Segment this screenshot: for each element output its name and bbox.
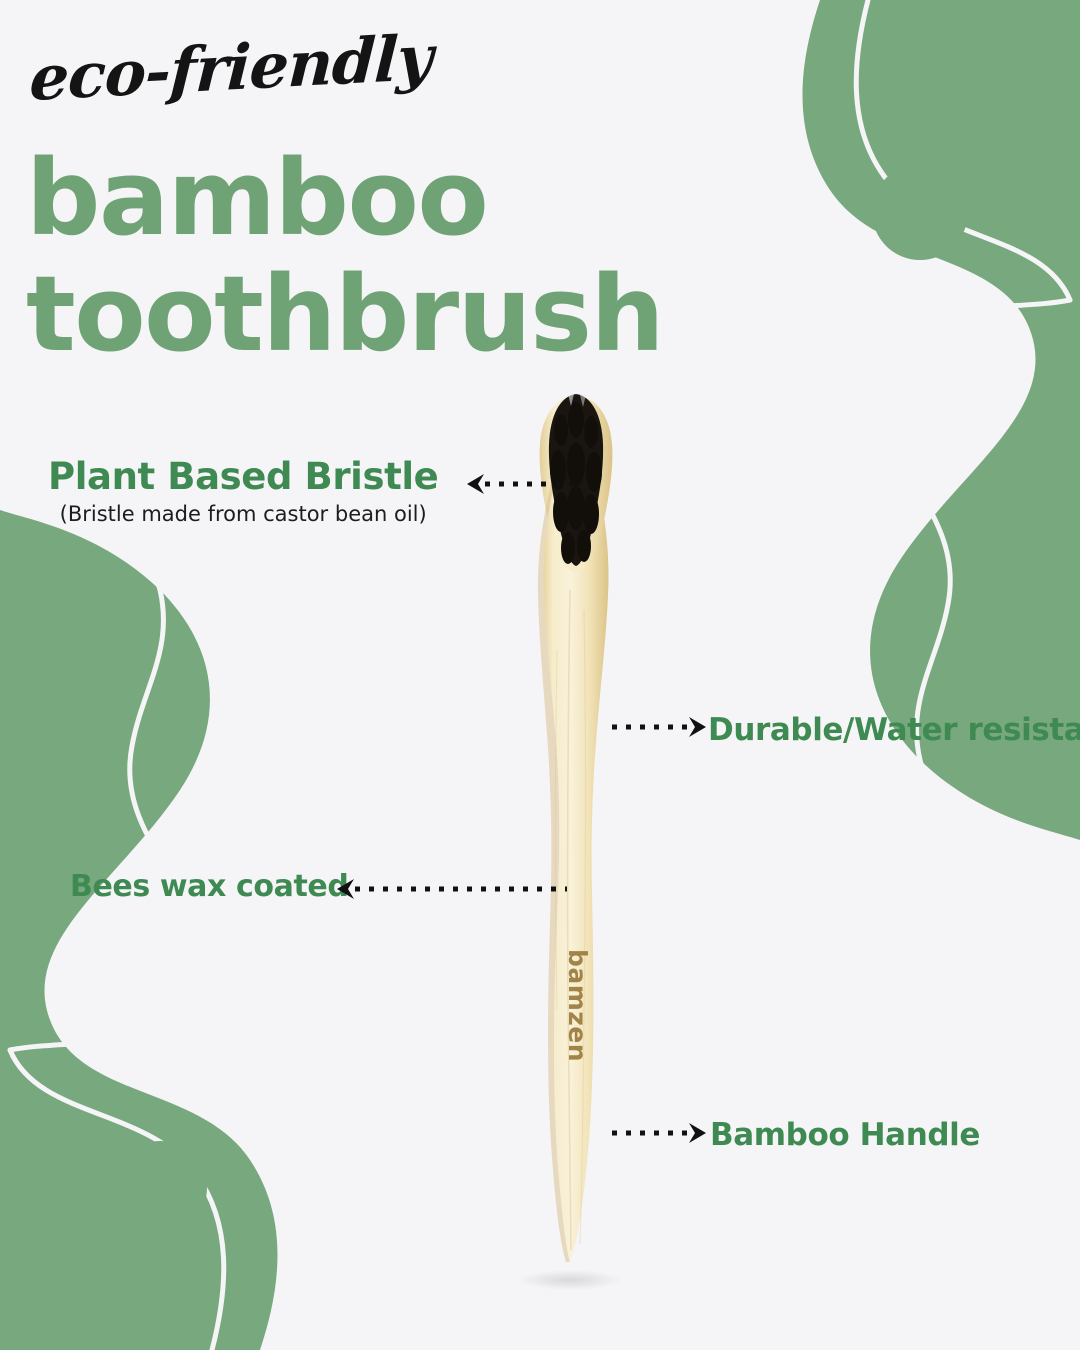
dotted-arrow-right-icon — [612, 1122, 708, 1144]
page-title: bamboo toothbrush — [26, 140, 663, 373]
callout-label-beeswax: Bees wax coated — [70, 869, 348, 904]
callout-sublabel-bristle: (Bristle made from castor bean oil) — [48, 502, 438, 526]
green-circle-bottom-left — [113, 1141, 207, 1235]
green-circle-top-right — [872, 164, 968, 260]
bamboo-toothbrush-illustration — [498, 390, 678, 1300]
brush-shadow — [518, 1270, 622, 1290]
dotted-arrow-right-icon — [612, 716, 708, 738]
callout-bees-wax-coated: Bees wax coated — [70, 869, 348, 904]
callout-label-bristle: Plant Based Bristle — [48, 455, 438, 498]
dotted-arrow-left-icon — [335, 878, 567, 900]
callout-label-handle: Bamboo Handle — [710, 1117, 980, 1153]
eyebrow-heading: eco-friendly — [28, 21, 434, 115]
callout-label-durable: Durable/Water resistant — [708, 712, 1080, 748]
callout-bamboo-handle: Bamboo Handle — [710, 1117, 980, 1153]
page-title-line-1: bamboo — [26, 140, 663, 256]
dotted-arrow-left-icon — [465, 473, 577, 495]
callout-plant-based-bristle: Plant Based Bristle (Bristle made from c… — [48, 455, 438, 526]
callout-durable-water-resistant: Durable/Water resistant — [708, 712, 1080, 748]
green-organic-blob-bottom-left — [0, 494, 278, 1350]
page-title-line-2: toothbrush — [26, 256, 663, 372]
product-infographic-poster: eco-friendly bamboo toothbrush — [0, 0, 1080, 1350]
